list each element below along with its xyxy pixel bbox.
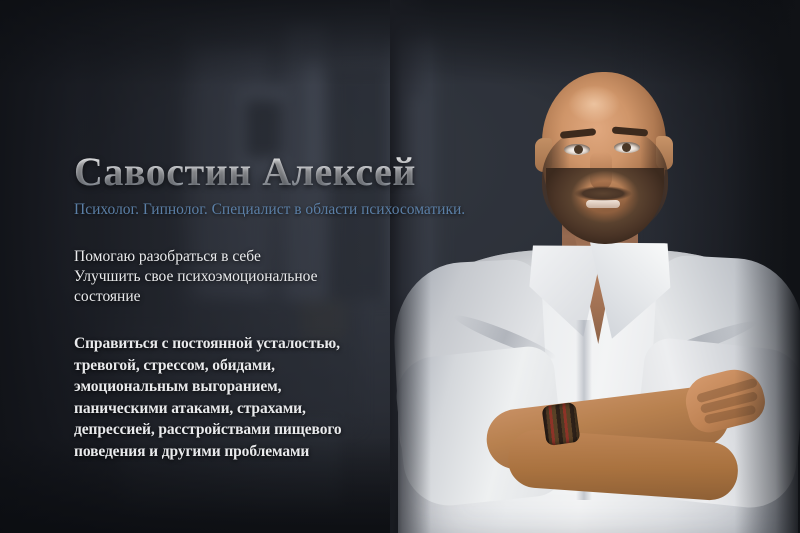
issues-line: эмоциональным выгоранием,: [74, 376, 444, 398]
page-title: Савостин Алексей: [74, 148, 494, 196]
help-line: Помогаю разобраться в себе: [74, 247, 414, 267]
pupil-left: [574, 145, 583, 154]
help-line: Улучшить свое психоэмоциональное: [74, 267, 414, 287]
beaded-bracelet: [541, 402, 580, 446]
issues-line: депрессией, расстройствами пищевого: [74, 419, 444, 441]
help-paragraph: Помогаю разобраться в себе Улучшить свое…: [74, 247, 414, 307]
issues-line: Справиться с постоянной усталостью,: [74, 333, 444, 355]
promo-banner: Савостин Алексей Психолог. Гипнолог. Спе…: [0, 0, 800, 533]
issues-line: тревогой, стрессом, обидами,: [74, 355, 444, 377]
mouth: [586, 200, 620, 208]
issues-line: поведения и другими проблемами: [74, 441, 444, 463]
subtitle: Психолог. Гипнолог. Специалист в области…: [74, 200, 474, 219]
banner-copy: Савостин Алексей Психолог. Гипнолог. Спе…: [74, 148, 494, 462]
help-line: состояние: [74, 287, 414, 307]
pupil-right: [622, 143, 631, 152]
issues-paragraph: Справиться с постоянной усталостью, трев…: [74, 333, 444, 462]
mustache: [574, 186, 632, 201]
issues-line: паническими атаками, страхами,: [74, 398, 444, 420]
head-highlight: [558, 78, 630, 130]
